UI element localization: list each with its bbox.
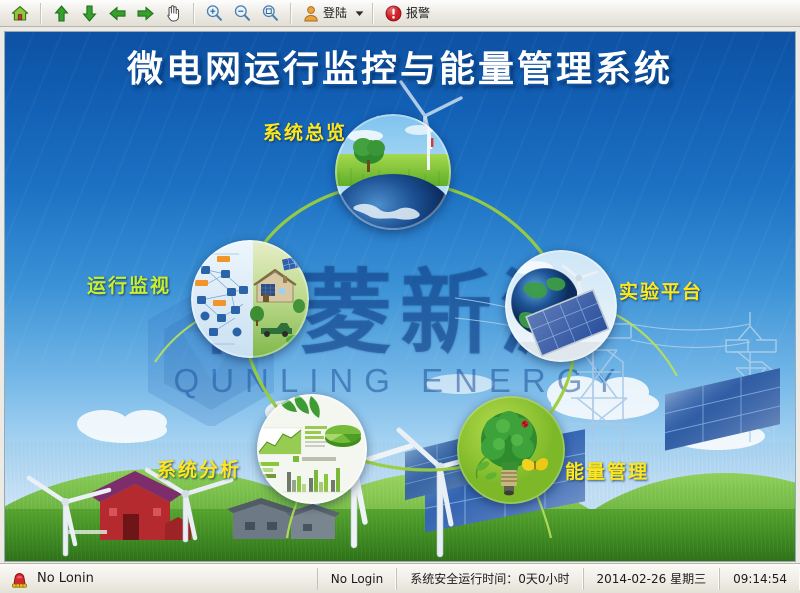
status-left-text: No Lonin xyxy=(37,571,94,586)
status-bar: No Lonin No Login 系统安全运行时间：0天0小时 2014-02… xyxy=(0,563,800,593)
toolbar-separator-3 xyxy=(290,3,291,24)
arrow-left-icon xyxy=(109,6,126,21)
toolbar-separator-2 xyxy=(193,3,194,24)
zoom-reset-button[interactable] xyxy=(256,1,284,26)
pan-button[interactable] xyxy=(159,1,187,26)
main-canvas[interactable]: 群菱新源 QUNLING ENERGY xyxy=(4,31,796,562)
status-login-state: No Login xyxy=(317,568,397,590)
home-icon xyxy=(11,5,29,22)
nav-node-platform[interactable] xyxy=(505,250,617,362)
login-button[interactable]: 登陆 xyxy=(297,1,353,26)
main-toolbar: 登陆 报警 xyxy=(0,0,800,27)
chevron-down-icon xyxy=(355,10,364,17)
status-date: 2014-02-26 星期三 xyxy=(583,568,720,590)
alarm-button[interactable]: 报警 xyxy=(379,1,436,26)
status-runtime: 系统安全运行时间：0天0小时 xyxy=(396,568,582,590)
earth-grass-windturbine-photo xyxy=(335,114,451,230)
nav-label-platform[interactable]: 实验平台 xyxy=(619,277,703,304)
home-button[interactable] xyxy=(6,1,34,26)
move-right-button[interactable] xyxy=(131,1,159,26)
status-time: 09:14:54 xyxy=(719,568,800,590)
nav-label-energy[interactable]: 能量管理 xyxy=(565,457,649,484)
green-leaf-lightbulb-photo xyxy=(457,396,565,504)
nav-label-monitoring[interactable]: 运行监视 xyxy=(87,271,171,298)
move-left-button[interactable] xyxy=(103,1,131,26)
login-dropdown-button[interactable] xyxy=(353,2,366,25)
siren-icon xyxy=(10,569,29,588)
zoom-in-icon xyxy=(205,4,223,22)
toolbar-separator-4 xyxy=(372,3,373,24)
green-dashboard-charts-photo xyxy=(257,394,367,504)
application-window: 登陆 报警 xyxy=(0,0,800,593)
move-down-button[interactable] xyxy=(75,1,103,26)
nav-node-monitoring[interactable] xyxy=(191,240,309,358)
smartgrid-network-house-diagram xyxy=(191,240,309,358)
status-alarm-area[interactable]: No Lonin xyxy=(0,569,94,588)
zoom-reset-icon xyxy=(261,4,279,22)
nav-node-energy[interactable] xyxy=(457,396,565,504)
zoom-in-button[interactable] xyxy=(200,1,228,26)
alarm-error-icon xyxy=(385,5,402,22)
nav-node-analysis[interactable] xyxy=(257,394,367,504)
zoom-out-icon xyxy=(233,4,251,22)
toolbar-separator-1 xyxy=(40,3,41,24)
alarm-button-label: 报警 xyxy=(406,7,430,19)
nav-label-overview[interactable]: 系统总览 xyxy=(263,118,347,145)
arrow-up-icon xyxy=(54,5,69,22)
globe-solarpanel-windturbine-photo xyxy=(505,250,617,362)
nav-node-overview[interactable] xyxy=(335,114,451,230)
arrow-down-icon xyxy=(82,5,97,22)
hand-icon xyxy=(165,4,182,22)
nav-label-analysis[interactable]: 系统分析 xyxy=(157,455,241,482)
login-button-label: 登陆 xyxy=(323,7,347,19)
user-icon xyxy=(303,5,319,22)
move-up-button[interactable] xyxy=(47,1,75,26)
zoom-out-button[interactable] xyxy=(228,1,256,26)
arrow-right-icon xyxy=(137,6,154,21)
scene-stage: 群菱新源 QUNLING ENERGY xyxy=(5,32,795,561)
